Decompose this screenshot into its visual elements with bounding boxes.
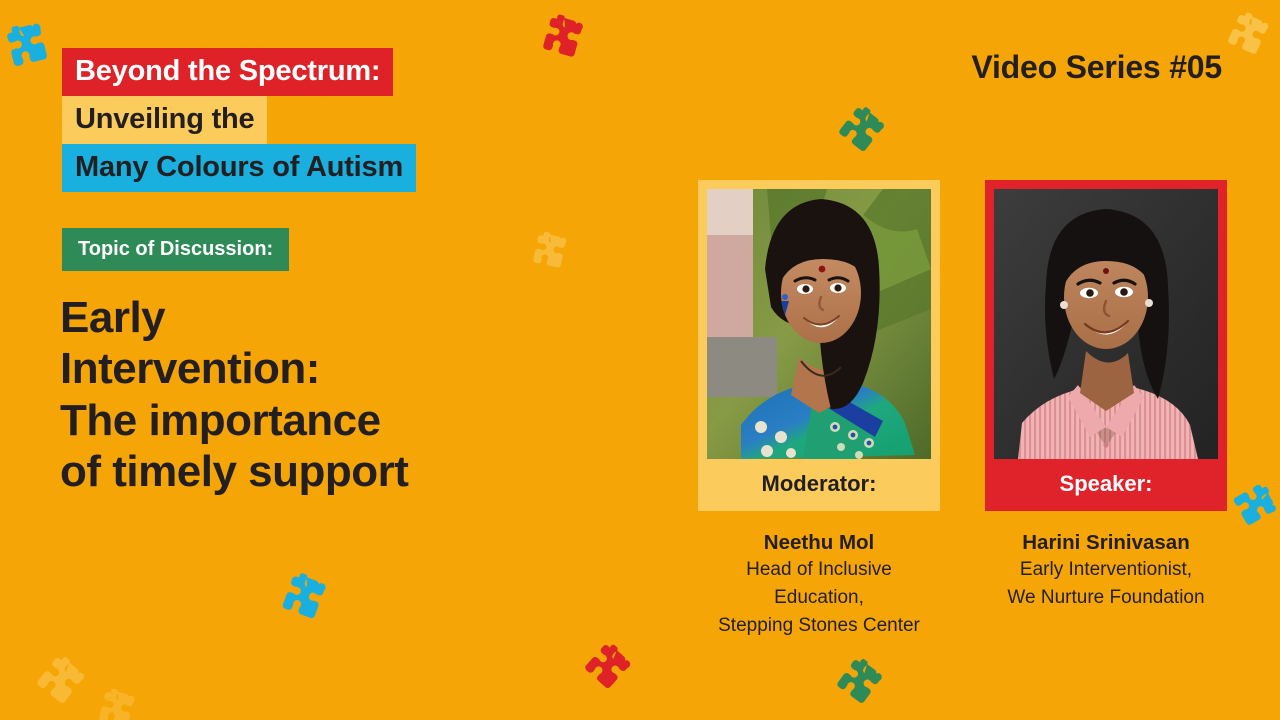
poster-canvas: Beyond the Spectrum: Unveiling the Many … [0,0,1280,720]
speaker-portrait [994,189,1218,459]
puzzle-piece-red-bottom-center [575,636,637,698]
speaker-card: Speaker: Harini Srinivasan Early Interve… [985,180,1227,612]
moderator-affiliation-line-3: Stepping Stones Center [684,612,954,640]
moderator-role-label: Moderator: [698,459,940,511]
topic-of-discussion-chip: Topic of Discussion: [62,228,289,271]
moderator-affiliation-line-2: Education, [684,584,954,612]
puzzle-piece-blue-bottom-left [274,569,333,628]
title-line-1: Beyond the Spectrum: [62,48,393,96]
topic-line-1: Early [60,292,620,343]
puzzle-piece-blue-top-left [0,19,55,75]
topic-line-3: The importance [60,395,620,446]
puzzle-piece-cream-top-right [1219,7,1274,62]
topic-line-2: Intervention: [60,343,620,394]
moderator-photo-frame [698,180,940,459]
speaker-photo-frame [985,180,1227,459]
moderator-portrait [707,189,931,459]
topic-headline: Early Intervention: The importance of ti… [60,292,620,498]
puzzle-piece-cream-bottom-edge [92,686,140,720]
title-block: Beyond the Spectrum: Unveiling the Many … [62,48,416,192]
title-line-3: Many Colours of Autism [62,144,416,192]
moderator-affiliation: Head of Inclusive Education, Stepping St… [698,556,940,640]
speaker-role-label: Speaker: [985,459,1227,511]
speaker-details: Harini Srinivasan Early Interventionist,… [985,530,1227,612]
puzzle-piece-green-bottom-right [827,651,888,712]
title-line-2: Unveiling the [62,96,267,144]
speaker-affiliation: Early Interventionist, We Nurture Founda… [985,556,1227,612]
moderator-details: Neethu Mol Head of Inclusive Education, … [698,530,940,640]
puzzle-piece-blue-right-edge [1224,476,1280,533]
speaker-name: Harini Srinivasan [985,530,1227,556]
topic-line-4: of timely support [60,446,620,497]
moderator-name: Neethu Mol [698,530,940,556]
puzzle-piece-cream-mid-left [526,229,571,274]
moderator-affiliation-line-1: Head of Inclusive [684,556,954,584]
moderator-card: Moderator: Neethu Mol Head of Inclusive … [698,180,940,640]
puzzle-piece-red-top-center [535,11,589,65]
video-series-label: Video Series #05 [971,51,1222,83]
speaker-affiliation-line-1: Early Interventionist, [967,556,1245,584]
puzzle-piece-green-top-right [829,99,891,161]
puzzle-piece-cream-bottom-left [27,649,92,714]
speaker-affiliation-line-2: We Nurture Foundation [967,584,1245,612]
